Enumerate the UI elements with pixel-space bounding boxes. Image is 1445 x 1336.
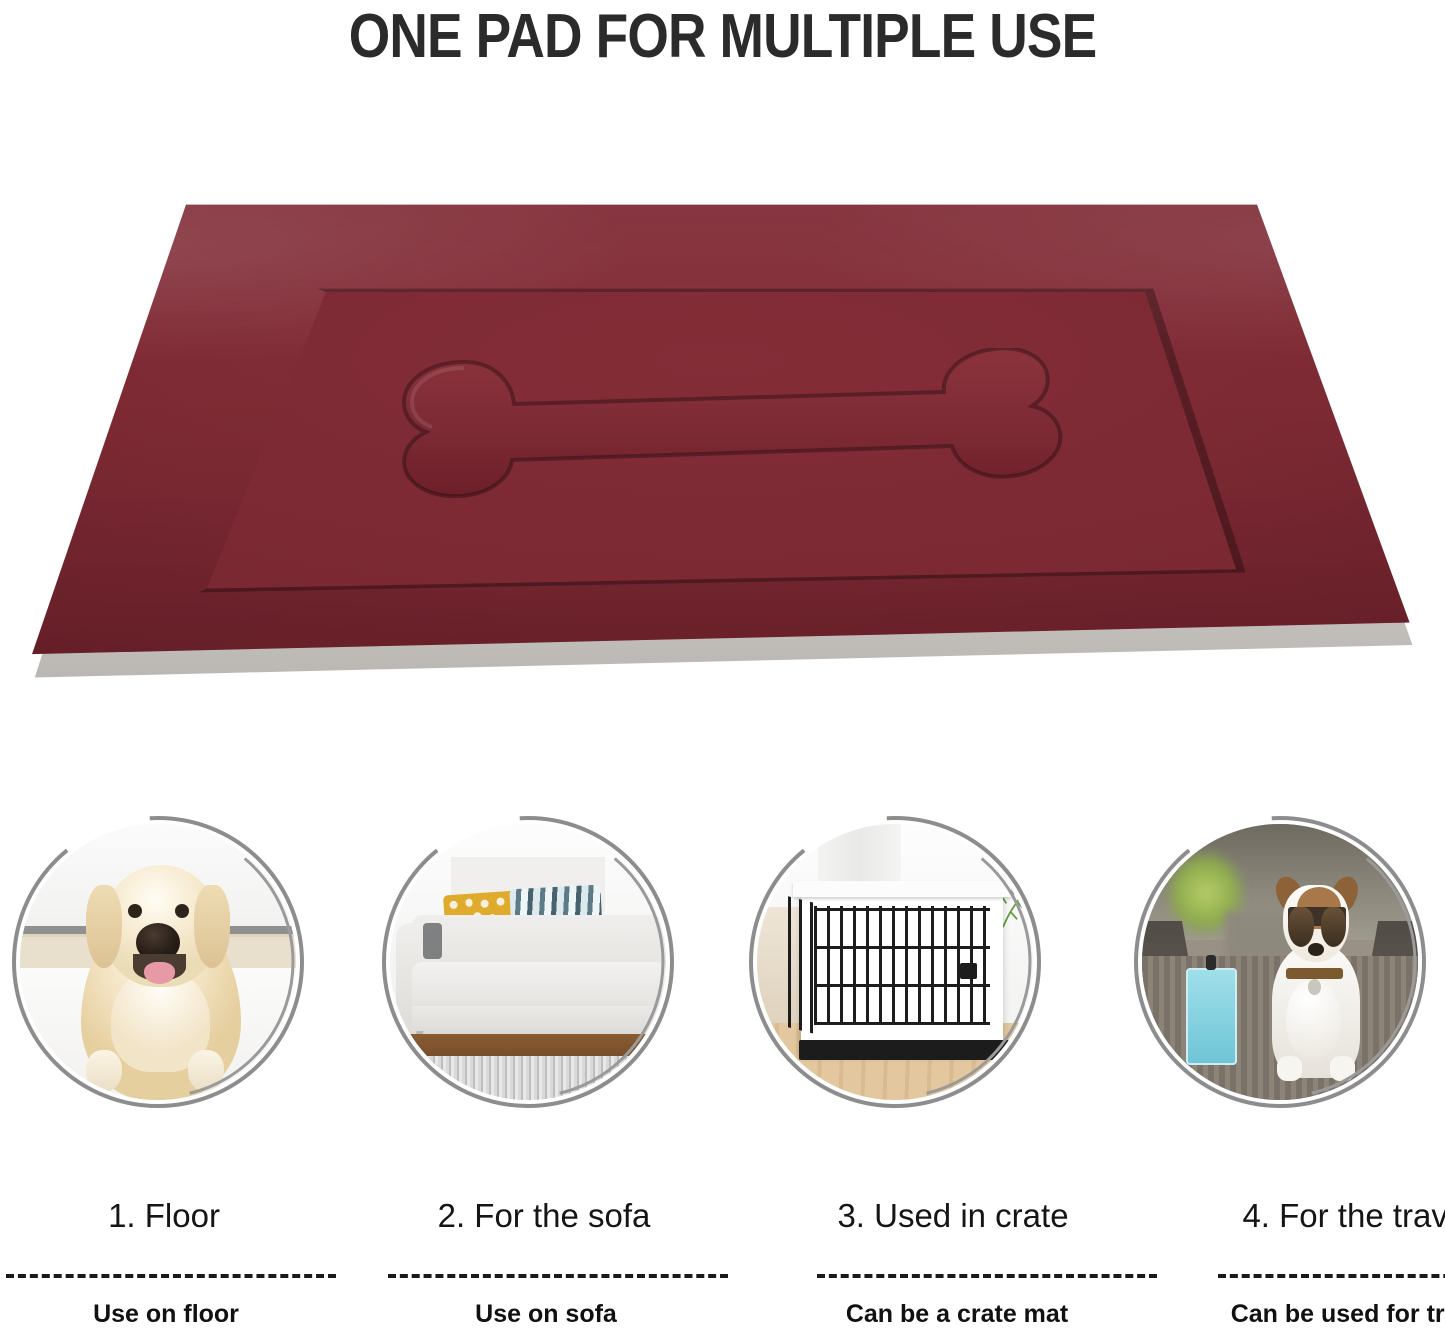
card-subtitle-3: Can be a crate mat	[807, 1300, 1107, 1329]
card-subtitle-1: Use on floor	[16, 1300, 316, 1329]
photo-ring-1	[8, 812, 308, 1112]
card-title-3: 3. Used in crate	[803, 1197, 1103, 1235]
use-case-card-crate[interactable]: 3. Used in crate Can be a crate mat	[745, 812, 1045, 1182]
card-subtitle-4: Can be used for travel	[1212, 1300, 1445, 1329]
white-wooden-dog-crate-photo	[757, 824, 1033, 1100]
use-case-card-floor[interactable]: 1. Floor Use on floor	[8, 812, 308, 1182]
card-divider-1	[6, 1274, 336, 1278]
card-subtitle-2: Use on sofa	[396, 1300, 696, 1329]
card-title-2: 2. For the sofa	[394, 1197, 694, 1235]
use-case-card-sofa[interactable]: 2. For the sofa Use on sofa	[378, 812, 678, 1182]
card-divider-3	[817, 1274, 1157, 1278]
photo-ring-3	[745, 812, 1045, 1112]
photo-ring-4	[1130, 812, 1430, 1112]
card-title-1: 1. Floor	[14, 1197, 314, 1235]
dog-bed-pad	[18, 190, 1418, 690]
page-title: ONE PAD FOR MULTIPLE USE	[101, 2, 1344, 72]
card-divider-2	[388, 1274, 728, 1278]
use-case-card-list: 1. Floor Use on floor	[0, 812, 1445, 1336]
use-case-card-travel[interactable]: 4. For the travel Can be used for travel	[1130, 812, 1430, 1182]
gray-sofa-with-pillows-photo	[390, 824, 666, 1100]
hero-product-image	[0, 180, 1445, 720]
bone-emboss-icon	[386, 348, 1076, 498]
jack-russell-with-sunglasses-travel-photo	[1142, 824, 1418, 1100]
photo-ring-2	[378, 812, 678, 1112]
card-title-4: 4. For the travel	[1208, 1197, 1445, 1235]
card-divider-4	[1218, 1274, 1445, 1278]
golden-retriever-on-floor-photo	[20, 824, 296, 1100]
